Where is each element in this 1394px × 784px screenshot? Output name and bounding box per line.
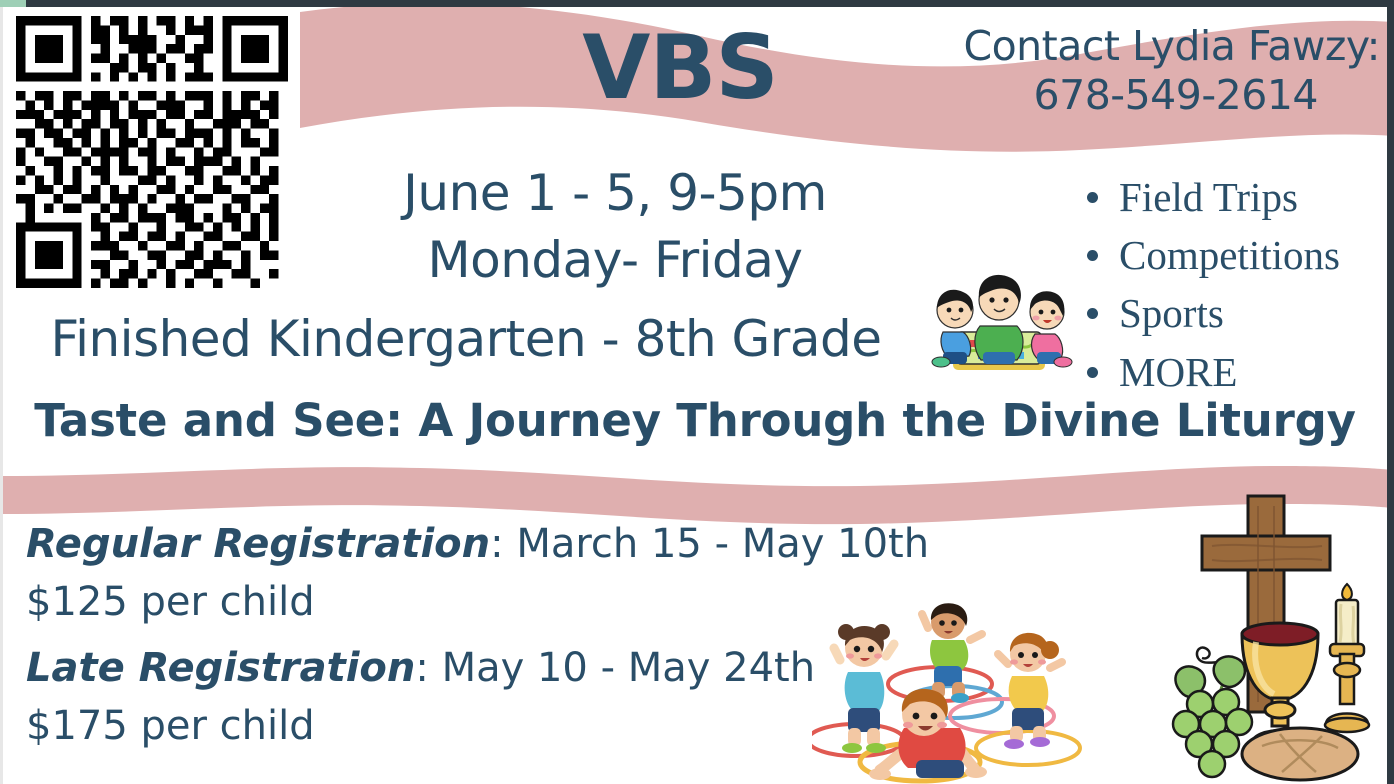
registration-label: Regular Registration	[26, 521, 490, 567]
list-item: Sports	[1085, 284, 1340, 342]
children-playing-board-game-icon	[925, 248, 1075, 380]
registration-row: Regular Registration: March 15 - May 10t…	[26, 524, 926, 564]
right-edge-bar	[1387, 0, 1394, 784]
left-edge-line	[0, 7, 3, 784]
registration-row: Late Registration: May 10 - May 24th	[26, 648, 926, 688]
registration-price: $125 per child	[26, 582, 926, 622]
contact-block: Contact Lydia Fawzy: 678-549-2614	[880, 22, 1380, 120]
schedule-days: Monday- Friday	[300, 227, 930, 294]
contact-phone: 678-549-2614	[880, 70, 1380, 120]
registration-block: Regular Registration: March 15 - May 10t…	[26, 524, 926, 772]
list-item: MORE	[1085, 343, 1340, 401]
theme-title: Taste and See: A Journey Through the Div…	[0, 396, 1390, 446]
cross-chalice-candle-bread-grapes-icon	[1140, 492, 1390, 782]
contact-name: Contact Lydia Fawzy:	[880, 22, 1380, 70]
list-item: Field Trips	[1085, 168, 1340, 226]
activities-list: Field Trips Competitions Sports MORE	[1085, 168, 1340, 401]
qr-code-icon[interactable]	[16, 16, 288, 288]
registration-dates: : May 10 - May 24th	[415, 645, 815, 691]
list-item: Competitions	[1085, 226, 1340, 284]
registration-price: $175 per child	[26, 706, 926, 746]
vbs-flyer: VBS Contact Lydia Fawzy: 678-549-2614 Ju…	[0, 0, 1394, 784]
top-edge-bar	[0, 0, 1394, 7]
page-title: VBS	[560, 24, 800, 112]
schedule-block: June 1 - 5, 9-5pm Monday- Friday	[300, 160, 930, 294]
schedule-grades: Finished Kindergarten - 8th Grade	[16, 312, 916, 366]
registration-label: Late Registration	[26, 645, 415, 691]
top-edge-accent	[0, 0, 26, 7]
registration-dates: : March 15 - May 10th	[490, 521, 929, 567]
schedule-dates: June 1 - 5, 9-5pm	[300, 160, 930, 227]
